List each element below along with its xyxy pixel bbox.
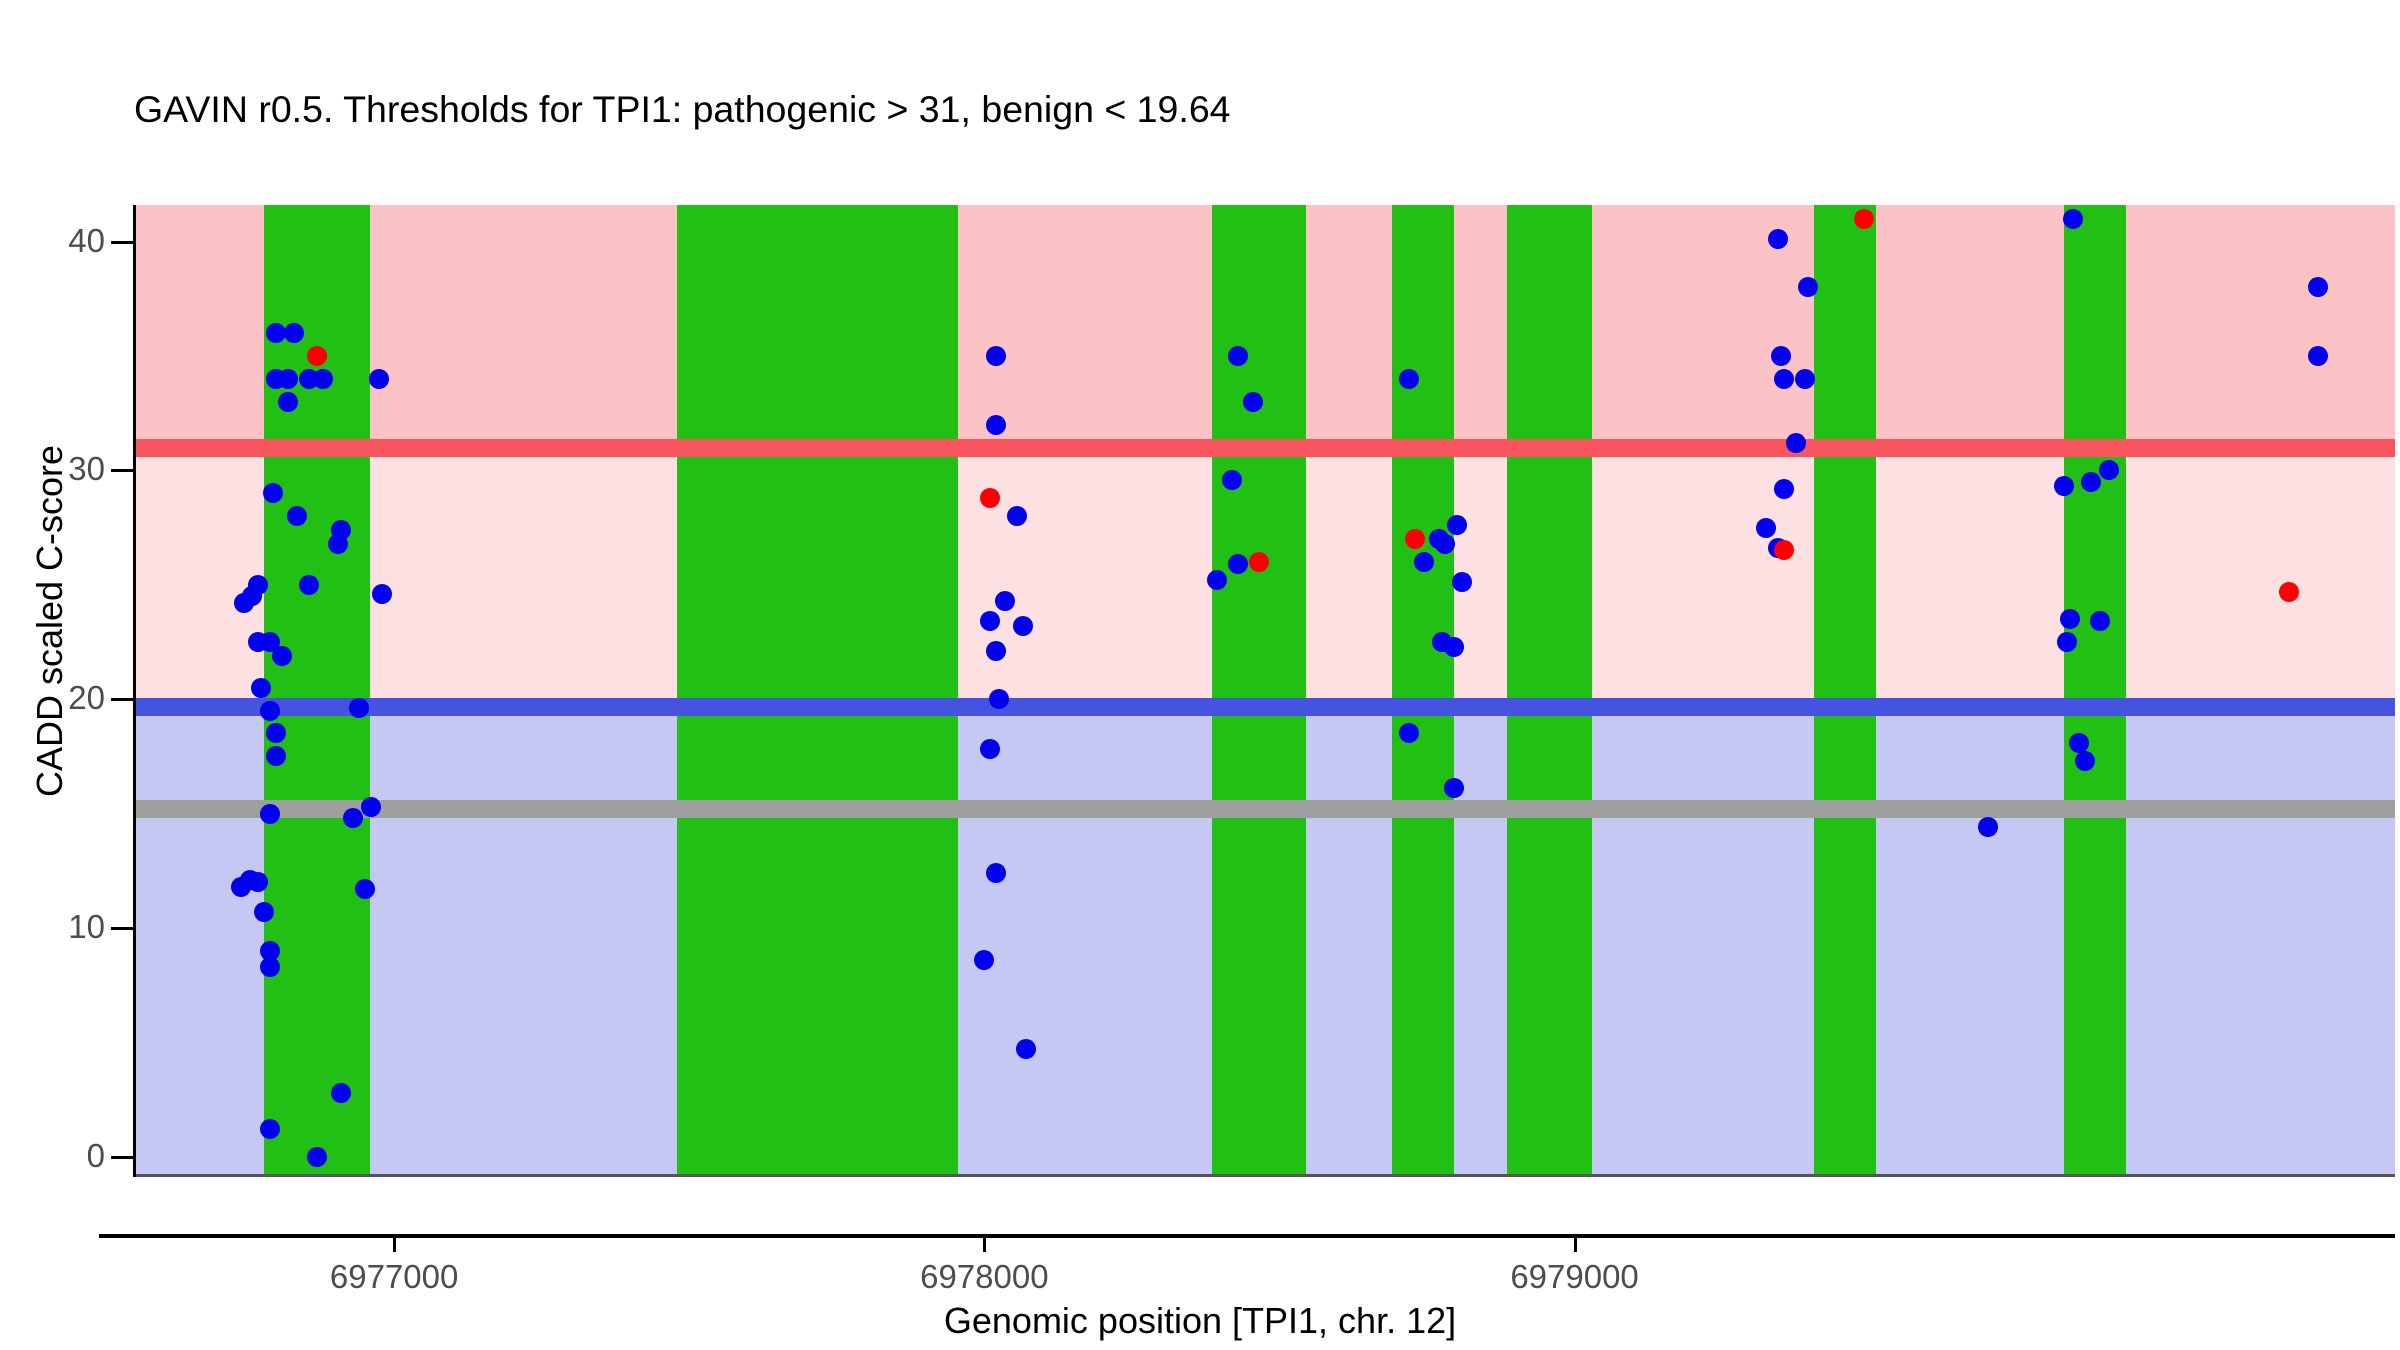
gnomad-variant-point — [1447, 515, 1467, 535]
pathogenic-variant-point — [980, 488, 1000, 508]
gnomad-variant-point — [986, 346, 1006, 366]
plot-panel — [135, 205, 2395, 1175]
y-axis-tick — [111, 241, 133, 244]
gnomad-variant-point — [1016, 1039, 1036, 1059]
gnomad-variant-point — [995, 591, 1015, 611]
gnomad-variant-point — [1756, 518, 1776, 538]
pathogenic-threshold-line — [135, 439, 2395, 457]
gnomad-variant-point — [1774, 479, 1794, 499]
exon-band — [677, 205, 957, 1175]
y-axis-line — [133, 205, 136, 1177]
y-axis-tick — [111, 1156, 133, 1159]
y-axis-tick — [111, 927, 133, 930]
gnomad-variant-point — [1774, 369, 1794, 389]
gnomad-variant-point — [260, 701, 280, 721]
gnomad-variant-point — [1786, 433, 1806, 453]
exon-band — [1507, 205, 1593, 1175]
x-axis-tick-label: 6977000 — [264, 1258, 524, 1296]
benign-threshold-line — [135, 698, 2395, 716]
x-axis-tick — [393, 1234, 396, 1252]
exon-band — [1392, 205, 1454, 1175]
y-axis-label: CADD scaled C-score — [29, 241, 71, 1001]
exon-band — [1212, 205, 1306, 1175]
gnomad-variant-point — [986, 415, 1006, 435]
gnomad-variant-point — [355, 879, 375, 899]
gnomad-variant-point — [328, 534, 348, 554]
gnomad-variant-point — [1414, 552, 1434, 572]
gnomad-variant-point — [349, 698, 369, 718]
gnomad-variant-point — [1222, 470, 1242, 490]
x-axis-tick — [1574, 1234, 1577, 1252]
gnomad-variant-point — [1013, 616, 1033, 636]
pathogenic-variant-point — [1854, 209, 1874, 229]
x-axis-tick-label: 6979000 — [1445, 1258, 1705, 1296]
pathogenic-variant-point — [1249, 552, 1269, 572]
gnomad-variant-point — [307, 1147, 327, 1167]
gnomad-variant-point — [1771, 346, 1791, 366]
gnomad-variant-point — [1978, 817, 1998, 837]
gnomad-variant-point — [299, 575, 319, 595]
gnomad-variant-point — [2099, 460, 2119, 480]
gnomad-variant-point — [231, 877, 251, 897]
fallback-threshold-line — [135, 800, 2395, 818]
x-axis-tick — [983, 1234, 986, 1252]
gnomad-variant-point — [1435, 534, 1455, 554]
y-axis-tick — [111, 469, 133, 472]
exon-band — [1814, 205, 1876, 1175]
gnomad-variant-point — [331, 1083, 351, 1103]
gnomad-variant-point — [1007, 506, 1027, 526]
gnomad-variant-point — [2081, 472, 2101, 492]
gnomad-variant-point — [278, 392, 298, 412]
gnomad-variant-point — [251, 678, 271, 698]
gnomad-variant-point — [1444, 637, 1464, 657]
gnomad-variant-point — [1795, 369, 1815, 389]
gnomad-variant-point — [2069, 733, 2089, 753]
panel-bottom-border — [135, 1174, 2395, 1177]
x-axis-label: Genomic position [TPI1, chr. 12] — [700, 1300, 1700, 1342]
gnomad-variant-point — [260, 804, 280, 824]
gnomad-variant-point — [1228, 346, 1248, 366]
pathogenic-variant-point — [2279, 582, 2299, 602]
gnomad-variant-point — [1243, 392, 1263, 412]
y-axis-tick-label: 0 — [0, 1137, 105, 1175]
gnomad-variant-point — [361, 797, 381, 817]
gnomad-variant-point — [272, 646, 292, 666]
gnomad-variant-point — [1444, 778, 1464, 798]
title-line-1: GAVIN r0.5. Thresholds for TPI1: pathoge… — [134, 88, 2334, 130]
gnomad-variant-point — [287, 506, 307, 526]
gnomad-variant-point — [2075, 751, 2095, 771]
gnomad-variant-point — [343, 808, 363, 828]
y-axis-tick — [111, 698, 133, 701]
gnomad-variant-point — [1798, 277, 1818, 297]
gnomad-variant-point — [284, 323, 304, 343]
x-axis-tick-label: 6978000 — [854, 1258, 1114, 1296]
gnomad-variant-point — [278, 369, 298, 389]
gnomad-variant-point — [234, 593, 254, 613]
x-axis-line — [99, 1234, 2395, 1238]
exon-band — [2064, 205, 2126, 1175]
gnomad-variant-point — [2063, 209, 2083, 229]
gnomad-variant-point — [260, 957, 280, 977]
